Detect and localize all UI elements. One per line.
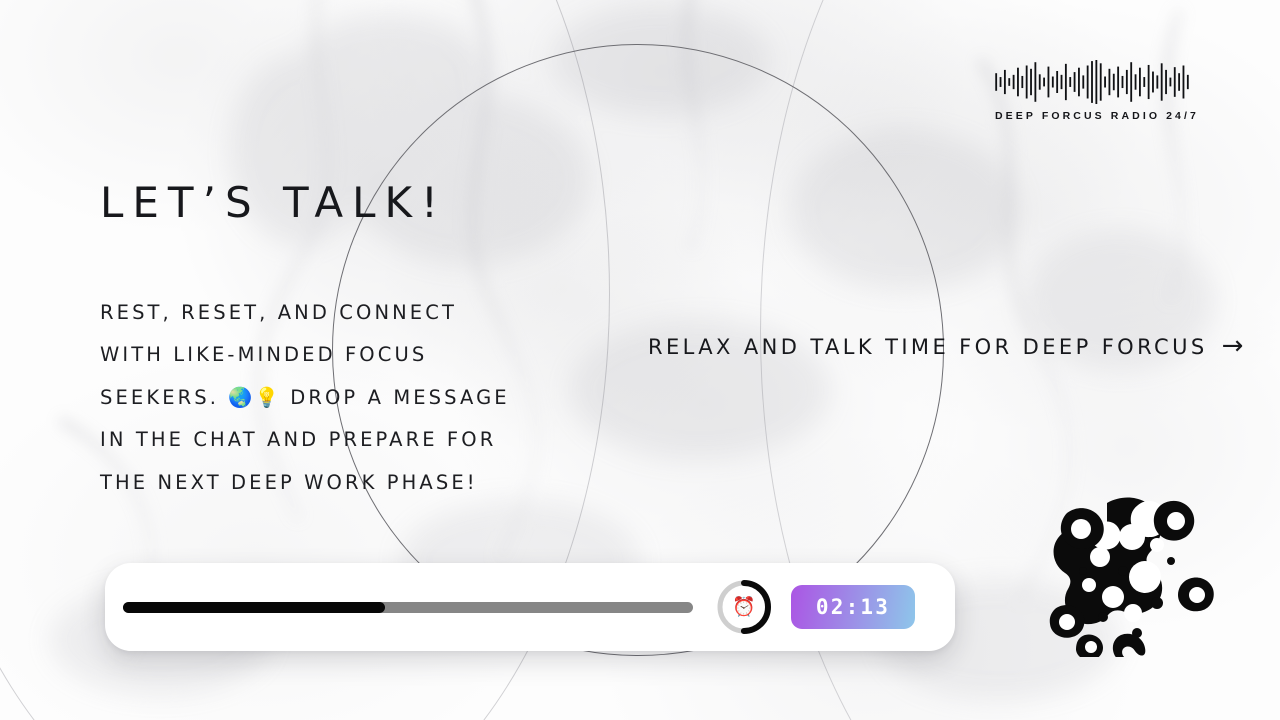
timer-dial-button[interactable]: ⏰ xyxy=(715,578,773,636)
time-remaining-badge[interactable]: 02:13 xyxy=(791,585,915,629)
brand-logo: DEEP FORCUS RADIO 24/7 xyxy=(992,60,1192,122)
body-line-3-pre: SEEKERS. xyxy=(100,386,228,409)
alarm-clock-icon: ⏰ xyxy=(715,578,773,636)
progress-fill xyxy=(123,602,385,613)
time-remaining-value: 02:13 xyxy=(816,595,890,619)
arrow-right-icon: → xyxy=(1222,333,1244,359)
body-copy: REST, RESET, AND CONNECT WITH LIKE-MINDE… xyxy=(100,292,620,504)
waveform-icon xyxy=(994,60,1190,104)
globe-icon: 🌏 xyxy=(228,386,254,409)
lightbulb-icon: 💡 xyxy=(255,386,281,409)
page-title: LET’S TALK! xyxy=(100,178,447,227)
progress-slider[interactable] xyxy=(123,602,693,613)
brand-name: DEEP FORCUS RADIO 24/7 xyxy=(992,110,1192,122)
body-line-2: WITH LIKE-MINDED FOCUS xyxy=(100,334,620,376)
slide-canvas: DEEP FORCUS RADIO 24/7 LET’S TALK! REST,… xyxy=(0,0,1280,720)
body-line-5: THE NEXT DEEP WORK PHASE! xyxy=(100,462,620,504)
audio-player-bar[interactable]: ⏰ 02:13 xyxy=(105,563,955,651)
body-line-4: IN THE CHAT AND PREPARE FOR xyxy=(100,419,620,461)
tagline-text: RELAX AND TALK TIME FOR DEEP FORCUS xyxy=(648,335,1208,359)
body-line-3-post: DROP A MESSAGE xyxy=(281,386,510,409)
body-line-3: SEEKERS. 🌏💡 DROP A MESSAGE xyxy=(100,377,620,419)
abstract-bubble-cluster-icon xyxy=(1037,485,1217,657)
tagline: RELAX AND TALK TIME FOR DEEP FORCUS → xyxy=(648,334,1243,360)
body-line-1: REST, RESET, AND CONNECT xyxy=(100,292,620,334)
